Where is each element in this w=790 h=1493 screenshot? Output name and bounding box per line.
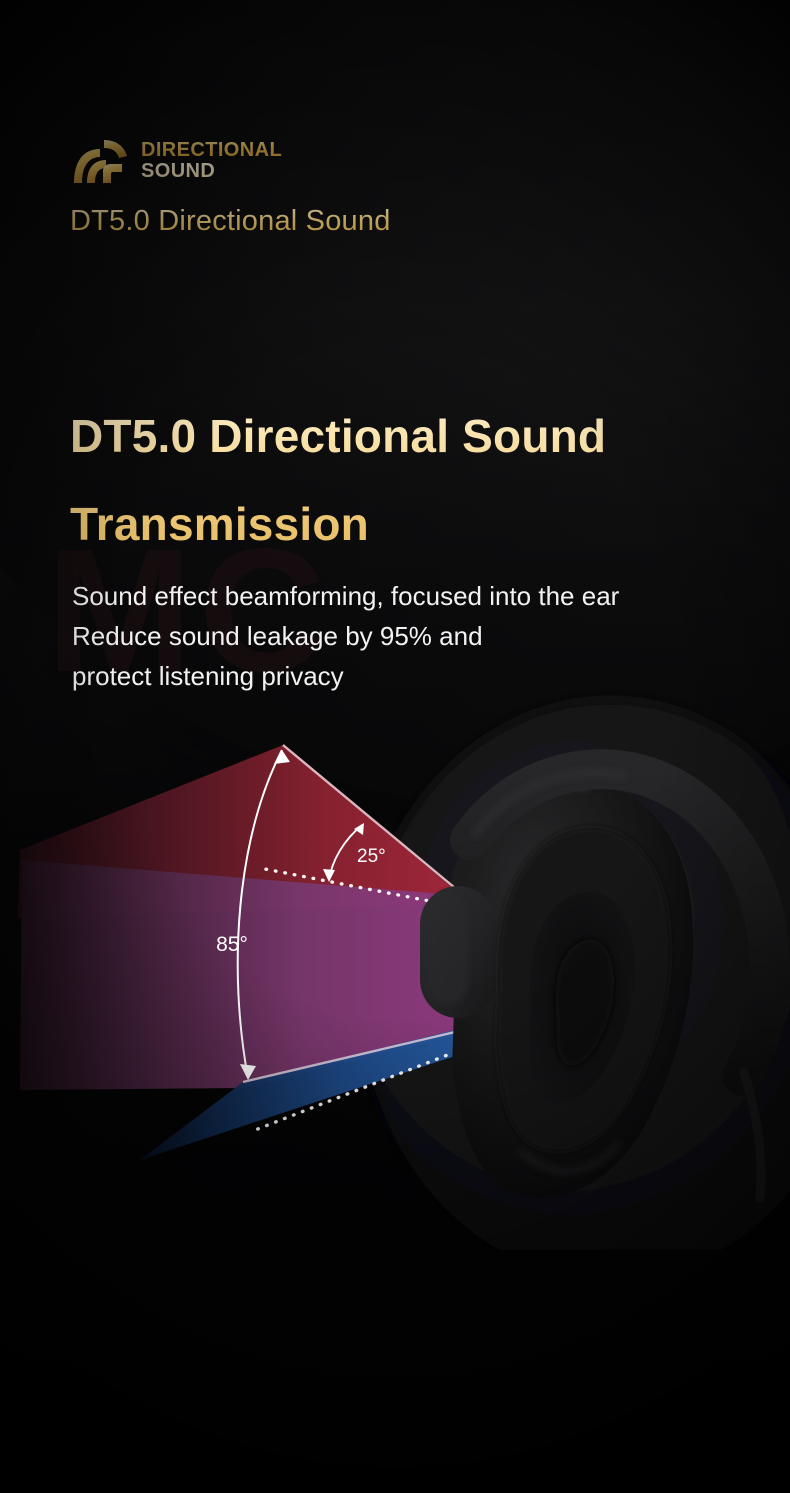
angle-label-25: 25° <box>357 846 386 867</box>
sound-wave-arcs-logo-icon <box>70 138 128 184</box>
angle-label-85: 85° <box>216 933 248 956</box>
brand-logo-wordmark: DIRECTIONAL SOUND <box>141 140 282 182</box>
product-feature-poster: MC DIRECTIONAL SOUND <box>0 0 790 1493</box>
brand-logo-line2: SOUND <box>141 161 282 182</box>
brand-logo-lockup: DIRECTIONAL SOUND <box>70 138 282 184</box>
headline-line-2: Transmission <box>70 480 770 568</box>
page-title: DT5.0 Directional Sound Transmission <box>70 392 770 568</box>
headline-line-1: DT5.0 Directional Sound <box>70 392 770 480</box>
header-subtitle: DT5.0 Directional Sound <box>70 205 391 238</box>
feature-description-line-2: Reduce sound leakage by 95% and <box>72 616 762 656</box>
earphone-driver-highlight <box>428 894 468 1004</box>
brand-logo-line1: DIRECTIONAL <box>141 140 282 161</box>
feature-description: Sound effect beamforming, focused into t… <box>72 576 762 696</box>
directional-sound-beam-diagram: 85° 25° <box>0 690 790 1250</box>
feature-description-line-1: Sound effect beamforming, focused into t… <box>72 576 762 616</box>
